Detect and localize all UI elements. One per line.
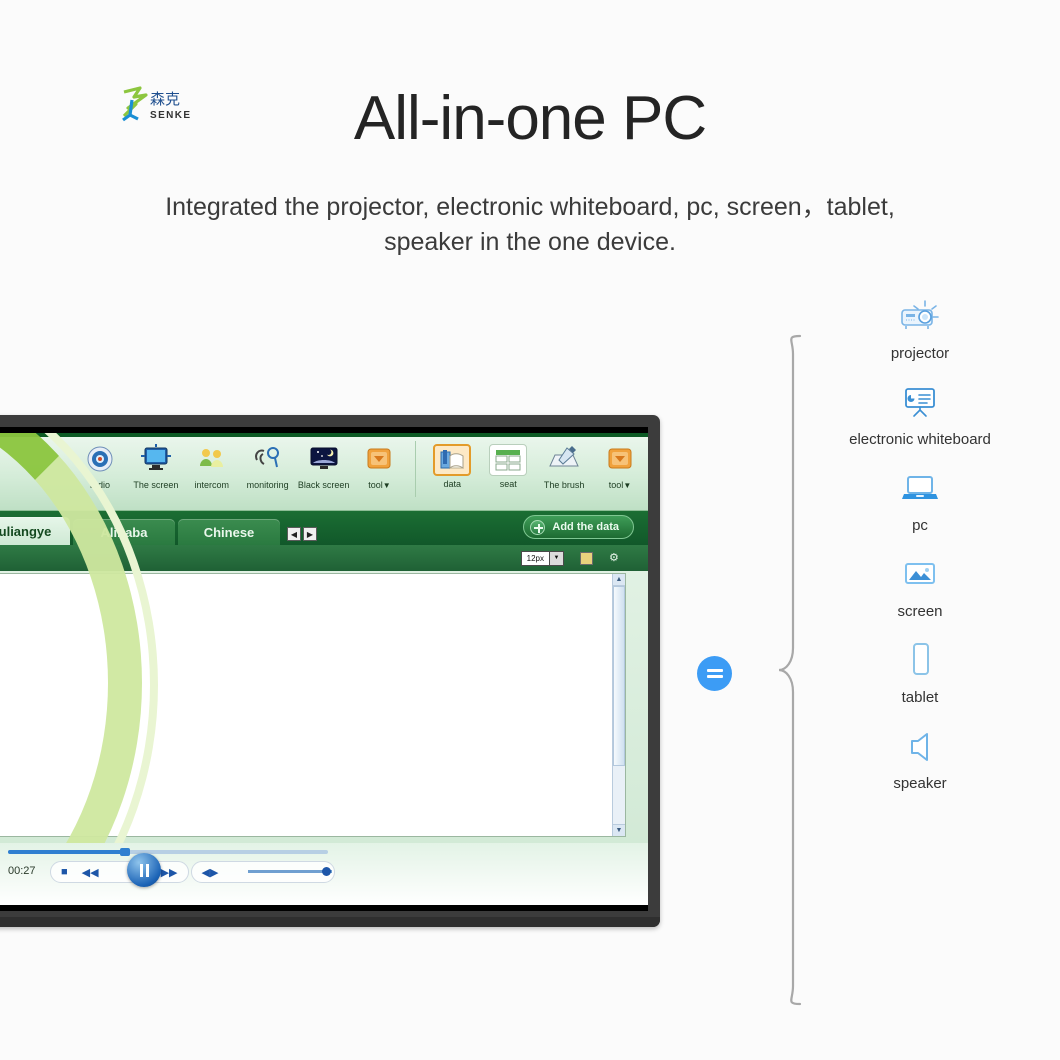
toolbar-item-intercom[interactable]: intercom bbox=[184, 437, 240, 490]
feature-label: projector bbox=[830, 345, 1010, 363]
toolbar-label: tool bbox=[368, 480, 383, 490]
feature-screen: screen bbox=[830, 553, 1010, 621]
brush-icon bbox=[536, 444, 592, 477]
toolbar-label: data bbox=[444, 479, 462, 489]
tool-box-icon bbox=[592, 444, 648, 477]
add-the-data-button[interactable]: Add the data bbox=[523, 515, 634, 539]
media-player-bar: 00:27 ■ ◀◀ ▶▶ ◀▶ bbox=[0, 843, 648, 905]
intercom-icon bbox=[184, 444, 240, 477]
data-books-icon bbox=[433, 444, 471, 476]
curly-brace bbox=[760, 330, 806, 1010]
volume-icon[interactable]: ◀▶ bbox=[202, 866, 219, 879]
player-time: 00:27 bbox=[8, 865, 36, 877]
font-size-value: 12px bbox=[522, 554, 549, 563]
whiteboard-icon bbox=[830, 381, 1010, 425]
toolbar-item-black-screen[interactable]: Black screen bbox=[296, 437, 352, 490]
tab-bar: Wuliangye Alibaba Chinese ◀ ▶ Add the da… bbox=[0, 511, 648, 545]
tab-label: Alibaba bbox=[101, 525, 148, 540]
feature-list: projector electronic whiteboard pc scree… bbox=[830, 295, 1010, 811]
font-size-select[interactable]: 12px ▼ bbox=[521, 551, 564, 566]
plus-circle-icon bbox=[530, 520, 545, 535]
chevron-down-icon[interactable]: ▼ bbox=[623, 481, 631, 490]
seat-grid-icon bbox=[489, 444, 527, 476]
seek-fill bbox=[8, 850, 126, 854]
tablet-icon bbox=[830, 639, 1010, 683]
feature-label: speaker bbox=[830, 775, 1010, 793]
toolbar-item-seat[interactable]: seat bbox=[480, 437, 536, 489]
document-canvas[interactable]: ▲ ▼ bbox=[0, 573, 626, 837]
toolbar-label: Black screen bbox=[298, 480, 350, 490]
toolbar-item-the-brush[interactable]: The brush bbox=[536, 437, 592, 490]
toolbar-item-radio[interactable]: radio bbox=[72, 437, 128, 490]
toolbar-label: The brush bbox=[544, 480, 585, 490]
chevron-down-icon[interactable]: ▼ bbox=[383, 481, 391, 490]
scroll-down-button[interactable]: ▼ bbox=[613, 824, 625, 836]
feature-label: tablet bbox=[830, 689, 1010, 707]
feature-tablet: tablet bbox=[830, 639, 1010, 707]
feature-label: electronic whiteboard bbox=[830, 431, 1010, 449]
curly-brace-icon bbox=[760, 330, 806, 1010]
vertical-scrollbar[interactable]: ▲ ▼ bbox=[612, 574, 625, 836]
radio-icon bbox=[72, 444, 128, 477]
toolbar-item-the-screen[interactable]: The screen bbox=[128, 437, 184, 490]
toolbar-label: The screen bbox=[133, 480, 178, 490]
volume-knob[interactable] bbox=[322, 867, 331, 876]
display-screen: radio The screen intercom bbox=[0, 427, 648, 911]
tab-label: Wuliangye bbox=[0, 524, 51, 539]
monitor-icon bbox=[128, 444, 184, 477]
seek-knob[interactable] bbox=[120, 848, 130, 856]
all-in-one-device: radio The screen intercom bbox=[0, 415, 660, 927]
projector-icon bbox=[830, 295, 1010, 339]
scroll-thumb[interactable] bbox=[613, 586, 625, 766]
toolbar-label: seat bbox=[500, 479, 517, 489]
seek-slider[interactable] bbox=[8, 850, 328, 854]
tab-scroll-controls: ◀ ▶ bbox=[287, 527, 317, 541]
toolbar-label: tool bbox=[609, 480, 624, 490]
tab-wuliangye[interactable]: Wuliangye bbox=[0, 517, 70, 545]
scroll-up-button[interactable]: ▲ bbox=[613, 574, 625, 586]
tab-prev-button[interactable]: ◀ bbox=[287, 527, 301, 541]
settings-icon[interactable]: ⚙ bbox=[609, 551, 624, 565]
tab-chinese[interactable]: Chinese bbox=[178, 519, 280, 545]
display-bezel: radio The screen intercom bbox=[0, 415, 660, 927]
page-subtitle: Integrated the projector, electronic whi… bbox=[130, 190, 930, 259]
feature-speaker: speaker bbox=[830, 725, 1010, 793]
stop-button[interactable]: ■ bbox=[61, 866, 68, 878]
previous-button[interactable]: ◀◀ bbox=[82, 866, 99, 879]
image-screen-icon bbox=[830, 553, 1010, 597]
add-button-label: Add the data bbox=[552, 521, 619, 533]
laptop-icon bbox=[830, 467, 1010, 511]
page-title: All-in-one PC bbox=[0, 88, 1060, 150]
tool-box-icon bbox=[352, 444, 408, 477]
toolbar-item-tool-1[interactable]: tool▼ bbox=[352, 437, 408, 490]
toolbar-item-data[interactable]: data bbox=[424, 437, 480, 489]
classroom-software-ui: radio The screen intercom bbox=[0, 433, 648, 905]
black-screen-icon bbox=[296, 444, 352, 477]
next-button[interactable]: ▶▶ bbox=[161, 866, 178, 879]
feature-projector: projector bbox=[830, 295, 1010, 363]
monitoring-icon bbox=[240, 444, 296, 477]
speaker-icon bbox=[830, 725, 1010, 769]
feature-label: screen bbox=[830, 603, 1010, 621]
tab-next-button[interactable]: ▶ bbox=[303, 527, 317, 541]
equals-badge bbox=[697, 656, 732, 691]
toolbar-divider bbox=[415, 441, 416, 497]
pause-button[interactable] bbox=[127, 853, 161, 887]
toolbar-label: radio bbox=[90, 480, 110, 490]
feature-label: pc bbox=[830, 517, 1010, 535]
highlight-icon[interactable] bbox=[580, 552, 593, 565]
tab-alibaba[interactable]: Alibaba bbox=[73, 519, 175, 545]
toolbar-label: intercom bbox=[195, 480, 230, 490]
player-transport-group: ■ ◀◀ ▶▶ bbox=[50, 861, 189, 883]
pause-icon bbox=[138, 864, 150, 877]
feature-electronic-whiteboard: electronic whiteboard bbox=[830, 381, 1010, 449]
tab-label: Chinese bbox=[204, 525, 255, 540]
chevron-down-icon[interactable]: ▼ bbox=[549, 552, 563, 565]
toolbar-item-tool-2[interactable]: tool▼ bbox=[592, 437, 648, 490]
volume-slider[interactable] bbox=[248, 870, 332, 873]
toolbar-label: monitoring bbox=[247, 480, 289, 490]
format-bar: 12px ▼ ⚙ bbox=[0, 545, 648, 571]
equals-icon bbox=[707, 667, 723, 680]
toolbar-item-monitoring[interactable]: monitoring bbox=[240, 437, 296, 490]
feature-pc: pc bbox=[830, 467, 1010, 535]
app-toolbar: radio The screen intercom bbox=[0, 437, 648, 511]
